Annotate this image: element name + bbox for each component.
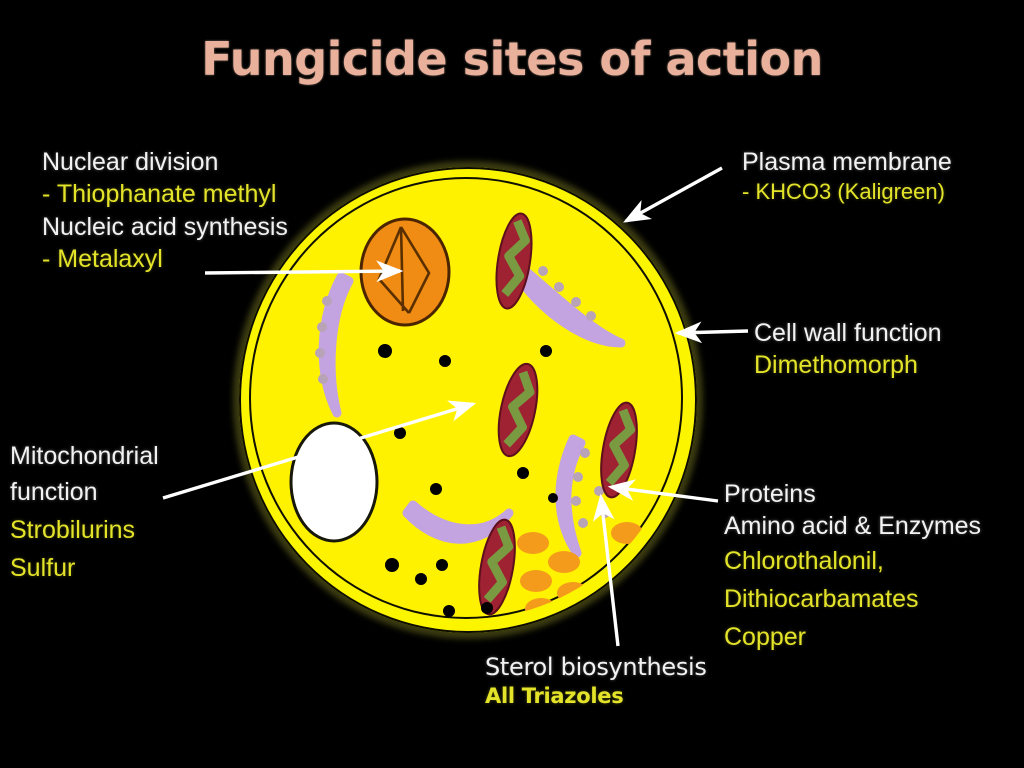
plasma-membrane-chemical: - KHCO3 (Kaligreen): [742, 178, 952, 207]
page-title: Fungicide sites of action: [0, 32, 1024, 86]
nucleic-acid-chemical: - Metalaxyl: [42, 243, 288, 276]
mitochondrial-heading-line2: function: [10, 474, 159, 510]
label-proteins: Proteins Amino acid & Enzymes Chlorothal…: [724, 478, 981, 656]
nuclear-division-chemical: - Thiophanate methyl: [42, 178, 288, 211]
sterol-chemical: All Triazoles: [485, 683, 707, 710]
fungal-cell-diagram: [233, 161, 703, 639]
endoplasmic-reticulum-2: [521, 273, 621, 343]
mitochondrion: [595, 400, 643, 500]
mitochondrial-chemical-1: Strobilurins: [10, 511, 159, 549]
secretory-vesicles: [517, 522, 643, 639]
vacuole: [291, 423, 377, 541]
label-nuclear-division: Nuclear division - Thiophanate methyl Nu…: [42, 146, 288, 275]
proteins-chemical-1: Chlorothalonil,: [724, 542, 981, 580]
proteins-chemical-3: Copper: [724, 618, 981, 656]
nucleic-acid-heading: Nucleic acid synthesis: [42, 211, 288, 243]
proteins-heading-line2: Amino acid & Enzymes: [724, 510, 981, 542]
cell-wall-heading: Cell wall function: [754, 317, 942, 349]
nuclear-division-heading: Nuclear division: [42, 146, 288, 178]
slide-canvas: Fungicide sites of action: [0, 0, 1024, 768]
mitochondrion: [492, 360, 545, 459]
label-sterol-biosynthesis: Sterol biosynthesis All Triazoles: [485, 652, 707, 710]
endoplasmic-reticulum-3: [560, 439, 581, 553]
plasma-membrane-heading: Plasma membrane: [742, 146, 952, 178]
cell-wall-chemical: Dimethomorph: [754, 349, 942, 382]
proteins-heading-line1: Proteins: [724, 478, 981, 510]
label-cell-wall-function: Cell wall function Dimethomorph: [754, 317, 942, 382]
proteins-chemical-2: Dithiocarbamates: [724, 580, 981, 618]
nucleus: [361, 219, 449, 325]
sterol-heading: Sterol biosynthesis: [485, 652, 707, 683]
mitochondrial-heading-line1: Mitochondrial: [10, 438, 159, 474]
label-mitochondrial-function: Mitochondrial function Strobilurins Sulf…: [10, 438, 159, 587]
label-plasma-membrane: Plasma membrane - KHCO3 (Kaligreen): [742, 146, 952, 207]
organelles-layer: [233, 161, 703, 639]
mitochondrial-chemical-2: Sulfur: [10, 549, 159, 587]
